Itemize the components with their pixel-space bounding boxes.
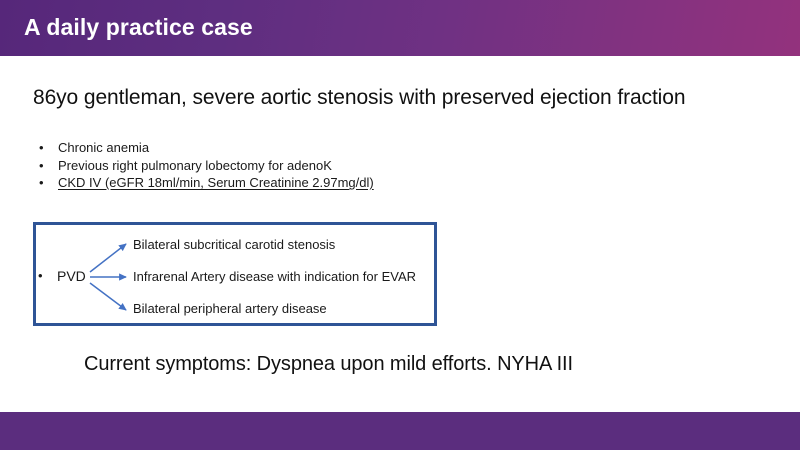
main-heading: 86yo gentleman, severe aortic stenosis w… [33, 86, 685, 110]
list-item: • Chronic anemia [36, 139, 374, 157]
bullet-icon: • [38, 268, 43, 284]
list-item: • Previous right pulmonary lobectomy for… [36, 157, 374, 175]
list-item-label: Chronic anemia [58, 140, 149, 155]
bullet-icon: • [39, 139, 44, 157]
current-symptoms: Current symptoms: Dyspnea upon mild effo… [84, 353, 573, 376]
list-item-label: CKD IV (eGFR 18ml/min, Serum Creatinine … [58, 175, 374, 190]
header-bar: A daily practice case [0, 0, 800, 56]
comorbidity-list: • Chronic anemia • Previous right pulmon… [36, 139, 374, 192]
slide: A daily practice case 86yo gentleman, se… [0, 0, 800, 450]
pvd-branch-label: Infrarenal Artery disease with indicatio… [133, 269, 416, 285]
bullet-icon: • [39, 174, 44, 192]
pvd-branch-label: Bilateral subcritical carotid stenosis [133, 237, 335, 253]
page-title: A daily practice case [24, 14, 253, 41]
footer-bar: 2022 PCR london valves PCRLondonValves.c… [0, 412, 800, 450]
pvd-label: PVD [57, 268, 86, 284]
bullet-icon: • [39, 157, 44, 175]
list-item: • CKD IV (eGFR 18ml/min, Serum Creatinin… [36, 174, 374, 192]
list-item-label: Previous right pulmonary lobectomy for a… [58, 158, 332, 173]
pvd-branch-label: Bilateral peripheral artery disease [133, 301, 327, 317]
